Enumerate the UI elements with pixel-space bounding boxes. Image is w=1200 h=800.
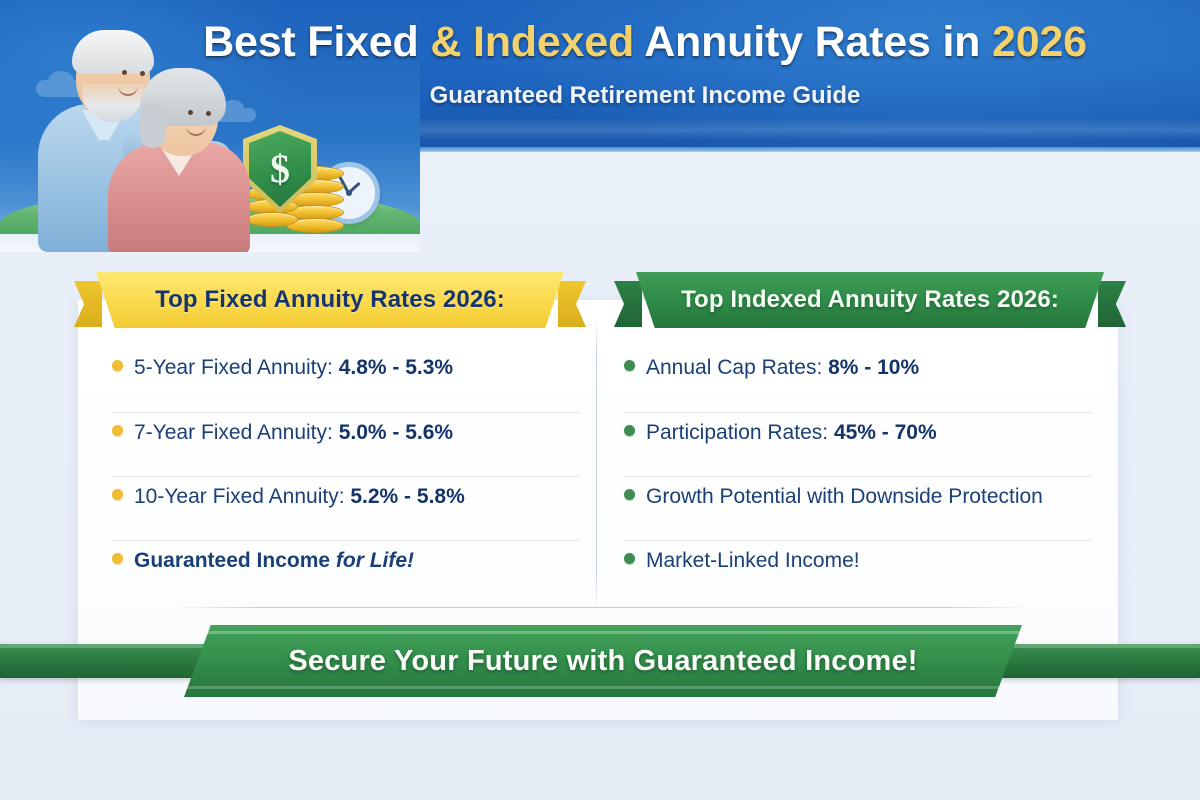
list-item-text: 7-Year Fixed Annuity: 5.0% - 5.6% [134, 421, 453, 444]
fixed-rates-list: 5-Year Fixed Annuity: 4.8% - 5.3% 7-Year… [112, 348, 580, 604]
list-item-text: Guaranteed Income for Life! [134, 549, 414, 572]
list-item-text: Annual Cap Rates: 8% - 10% [646, 356, 919, 379]
man-eye [140, 71, 145, 76]
list-item-text: Participation Rates: 45% - 70% [646, 421, 937, 444]
fixed-rates-ribbon: Top Fixed Annuity Rates 2026: [74, 272, 586, 328]
list-item-label: Growth Potential with Downside Protectio… [646, 485, 1043, 508]
title-segment-3: Annuity Rates in [634, 18, 992, 66]
bullet-icon [624, 489, 635, 500]
list-item: 7-Year Fixed Annuity: 5.0% - 5.6% [112, 412, 580, 476]
ribbon-tail-left [74, 281, 102, 327]
woman-hair-side [140, 102, 166, 148]
woman-eye [188, 110, 193, 115]
list-item-value: 5.2% - 5.8% [350, 485, 464, 508]
list-item: 10-Year Fixed Annuity: 5.2% - 5.8% [112, 476, 580, 540]
woman-eye [206, 111, 211, 116]
content-bottom-rule [172, 607, 1032, 608]
cta-banner: Secure Your Future with Guaranteed Incom… [184, 625, 1022, 697]
list-item-text: 10-Year Fixed Annuity: 5.2% - 5.8% [134, 485, 465, 508]
ribbon-body: Top Fixed Annuity Rates 2026: [96, 272, 564, 328]
indexed-rates-ribbon: Top Indexed Annuity Rates 2026: [614, 272, 1126, 328]
list-item: Annual Cap Rates: 8% - 10% [624, 348, 1092, 412]
indexed-rates-heading: Top Indexed Annuity Rates 2026: [636, 286, 1104, 314]
column-divider [596, 318, 597, 610]
infographic-canvas: $ Best Fixed & Indexed Annuity Rates in … [0, 0, 1200, 800]
ribbon-body: Top Indexed Annuity Rates 2026: [636, 272, 1104, 328]
fixed-rates-heading: Top Fixed Annuity Rates 2026: [96, 286, 564, 314]
list-item-text: Market-Linked Income! [646, 549, 860, 572]
bullet-icon [624, 425, 635, 436]
list-item: Participation Rates: 45% - 70% [624, 412, 1092, 476]
list-item: Market-Linked Income! [624, 540, 1092, 604]
ribbon-tail-left [614, 281, 642, 327]
list-item-value: for Life! [330, 549, 414, 572]
list-item-label: 7-Year Fixed Annuity: [134, 421, 339, 444]
page-title: Best Fixed & Indexed Annuity Rates in 20… [200, 20, 1090, 66]
man-hair [72, 30, 154, 74]
bullet-icon [112, 489, 123, 500]
ribbon-tail-right [558, 281, 586, 327]
page-subtitle: Guaranteed Retirement Income Guide [200, 82, 1090, 110]
clock-center-pin [346, 190, 352, 196]
list-item-label: 10-Year Fixed Annuity: [134, 485, 350, 508]
list-item-label: Annual Cap Rates: [646, 356, 828, 379]
man-eye [122, 70, 127, 75]
indexed-rates-list: Annual Cap Rates: 8% - 10% Participation… [624, 348, 1092, 604]
list-item: Guaranteed Income for Life! [112, 540, 580, 604]
list-item-label: Market-Linked Income! [646, 549, 860, 572]
ribbon-tail-right [1098, 281, 1126, 327]
list-item-text: 5-Year Fixed Annuity: 4.8% - 5.3% [134, 356, 453, 379]
title-segment-accent-indexed: & Indexed [430, 18, 634, 66]
title-segment-1: Best Fixed [203, 18, 430, 66]
list-item: Growth Potential with Downside Protectio… [624, 476, 1092, 540]
bullet-icon [112, 553, 123, 564]
bullet-icon [112, 360, 123, 371]
bullet-icon [112, 425, 123, 436]
list-item-value: 8% - 10% [828, 356, 919, 379]
cta-label: Secure Your Future with Guaranteed Incom… [288, 645, 917, 678]
bullet-icon [624, 360, 635, 371]
list-item: 5-Year Fixed Annuity: 4.8% - 5.3% [112, 348, 580, 412]
list-item-value: 45% - 70% [834, 421, 937, 444]
list-item-label: Guaranteed Income [134, 549, 330, 572]
list-item-label: Participation Rates: [646, 421, 834, 444]
list-item-value: 4.8% - 5.3% [339, 356, 453, 379]
list-item-label: 5-Year Fixed Annuity: [134, 356, 339, 379]
header-text-group: Best Fixed & Indexed Annuity Rates in 20… [200, 20, 1090, 110]
title-segment-accent-year: 2026 [992, 18, 1087, 66]
list-item-text: Growth Potential with Downside Protectio… [646, 485, 1043, 508]
bullet-icon [624, 553, 635, 564]
list-item-value: 5.0% - 5.6% [339, 421, 453, 444]
